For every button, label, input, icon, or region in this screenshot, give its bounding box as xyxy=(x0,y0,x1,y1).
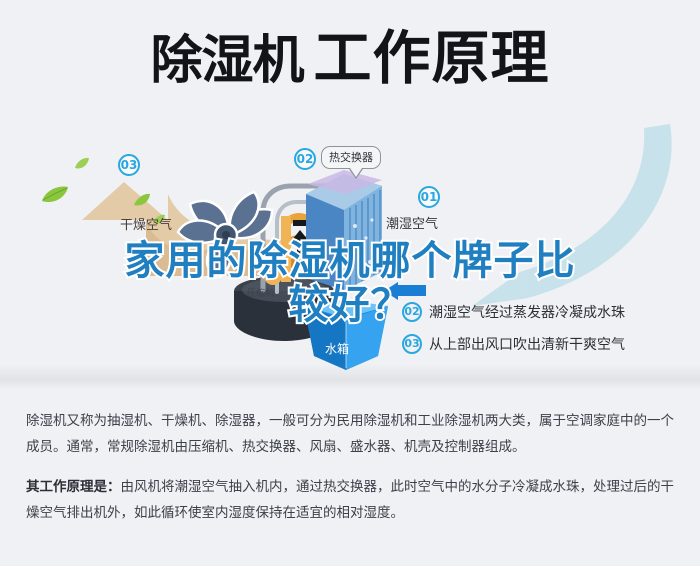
diagram-badge-03: 03 xyxy=(118,154,140,176)
article-paragraph-1: 除湿机又称为抽湿机、干燥机、除湿器，一般可分为民用除湿机和工业除湿机两大类，属于… xyxy=(26,408,674,460)
leaf-icon xyxy=(74,157,90,176)
watermark-line-2: 较好？ xyxy=(0,284,700,326)
caption-text-03: 从上部出风口吹出清新干爽空气 xyxy=(429,334,625,354)
infographic-hero: 除湿机工作原理 xyxy=(0,0,700,390)
article-body: 除湿机又称为抽湿机、干燥机、除湿器，一般可分为民用除湿机和工业除湿机两大类，属于… xyxy=(0,408,700,540)
diagram-badge-01: 01 xyxy=(418,186,440,208)
diagram-badge-02: 02 xyxy=(294,148,316,170)
hero-bottom-shadow xyxy=(0,364,700,390)
watermark-line-1: 家用的除湿机哪个牌子比 xyxy=(0,240,700,282)
watermark-overlay: 家用的除湿机哪个牌子比 较好？ xyxy=(0,240,700,326)
article-paragraph-2: 其工作原理是：由风机将潮湿空气抽入机内，通过热交换器，此时空气中的水分子冷凝成水… xyxy=(26,474,674,526)
page-title: 除湿机工作原理 xyxy=(0,28,700,92)
article-paragraph-2-text: 由风机将潮湿空气抽入机内，通过热交换器，此时空气中的水分子冷凝成水珠，处理过后的… xyxy=(26,479,674,521)
leaf-icon xyxy=(40,185,70,210)
humid-air-label: 潮湿空气 xyxy=(386,213,438,232)
dry-air-label: 干燥空气 xyxy=(120,214,172,233)
article-paragraph-2-lead: 其工作原理是： xyxy=(26,479,121,495)
leaf-icon xyxy=(133,193,151,213)
water-tank-label: 水箱 xyxy=(325,340,349,357)
caption-badge-03: 03 xyxy=(402,334,422,354)
page-title-part2: 工作原理 xyxy=(314,26,550,91)
list-item: 03 从上部出风口吹出清新干爽空气 xyxy=(402,328,625,360)
page-title-part1: 除湿机 xyxy=(150,31,303,91)
heat-exchanger-callout: 热交换器 xyxy=(321,146,381,169)
